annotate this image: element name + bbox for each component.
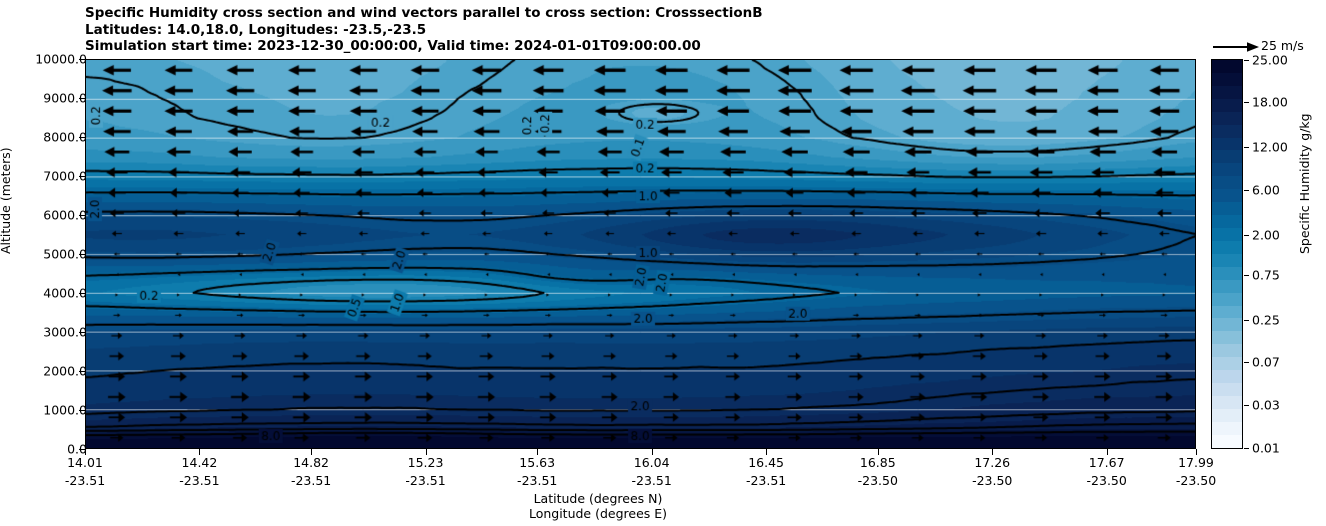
- x-axis-label-latitude: Latitude (degrees N): [0, 491, 1196, 506]
- colorbar-tick-mark: [1244, 448, 1249, 449]
- colorbar-segment: [1212, 422, 1242, 435]
- x-tick-label-latitude: 14.01: [67, 455, 103, 470]
- colorbar-segment: [1212, 150, 1242, 163]
- x-tick-label-longitude: -23.51: [517, 473, 557, 488]
- x-tick-label-latitude: 16.04: [634, 455, 670, 470]
- x-tick-label-longitude: -23.50: [1176, 473, 1216, 488]
- cross-section-plot: [85, 59, 1196, 449]
- colorbar-tick-mark: [1244, 190, 1249, 191]
- colorbar-segment: [1212, 409, 1242, 422]
- colorbar-tick-label: 18.00: [1252, 95, 1288, 110]
- x-tick-label-longitude: -23.51: [632, 473, 672, 488]
- colorbar-segment: [1212, 344, 1242, 357]
- x-tick-label-latitude: 17.99: [1178, 455, 1214, 470]
- x-tick-label-latitude: 16.85: [860, 455, 896, 470]
- colorbar-segment: [1212, 306, 1242, 319]
- title-line-2: Latitudes: 14.0,18.0, Longitudes: -23.5,…: [85, 22, 1195, 39]
- y-tick-mark: [79, 332, 85, 333]
- colorbar-segment: [1212, 202, 1242, 215]
- figure-title: Specific Humidity cross section and wind…: [85, 5, 1195, 55]
- colorbar-segment: [1212, 254, 1242, 267]
- colorbar-tick-mark: [1244, 102, 1249, 103]
- colorbar-tick-mark: [1244, 275, 1249, 276]
- colorbar-segment: [1212, 189, 1242, 202]
- y-tick-mark: [79, 293, 85, 294]
- x-tick-label-longitude: -23.50: [858, 473, 898, 488]
- figure-root: Specific Humidity cross section and wind…: [0, 0, 1326, 526]
- y-tick-mark: [79, 176, 85, 177]
- colorbar-tick-label: 12.00: [1252, 139, 1288, 154]
- colorbar-tick-mark: [1244, 362, 1249, 363]
- colorbar-segment: [1212, 99, 1242, 112]
- colorbar-segment: [1212, 73, 1242, 86]
- colorbar-segment: [1212, 112, 1242, 125]
- x-tick-label-latitude: 15.63: [519, 455, 555, 470]
- colorbar-tick-mark: [1244, 405, 1249, 406]
- colorbar-segment: [1212, 138, 1242, 151]
- colorbar-segment: [1212, 125, 1242, 138]
- x-tick-label-latitude: 16.45: [748, 455, 784, 470]
- x-tick-label-latitude: 17.67: [1089, 455, 1125, 470]
- x-tick-label-longitude: -23.50: [972, 473, 1012, 488]
- x-tick-label-longitude: -23.51: [746, 473, 786, 488]
- y-axis-label: Altitude (meters): [0, 147, 13, 254]
- colorbar-segment: [1212, 331, 1242, 344]
- x-tick-label-longitude: -23.51: [405, 473, 445, 488]
- wind-key-label: 25 m/s: [1261, 38, 1304, 53]
- x-tick-label-latitude: 15.23: [408, 455, 444, 470]
- y-tick-mark: [79, 254, 85, 255]
- colorbar-tick-mark: [1244, 235, 1249, 236]
- colorbar-segment: [1212, 435, 1242, 448]
- colorbar-segment: [1212, 241, 1242, 254]
- x-tick-label-latitude: 14.42: [182, 455, 218, 470]
- colorbar-tick-mark: [1244, 320, 1249, 321]
- colorbar-segment: [1212, 357, 1242, 370]
- colorbar-tick-mark: [1244, 147, 1249, 148]
- colorbar-segment: [1212, 383, 1242, 396]
- colorbar-segment: [1212, 228, 1242, 241]
- y-tick-mark: [79, 59, 85, 60]
- colorbar-tick-label: 0.07: [1252, 355, 1280, 370]
- y-tick-mark: [79, 410, 85, 411]
- colorbar-tick-label: 0.01: [1252, 441, 1280, 456]
- x-tick-label-latitude: 14.82: [293, 455, 329, 470]
- colorbar-segment: [1212, 293, 1242, 306]
- colorbar-tick-label: 0.25: [1252, 313, 1280, 328]
- colorbar-segment: [1212, 267, 1242, 280]
- title-line-1: Specific Humidity cross section and wind…: [85, 5, 1195, 22]
- humidity-contour-field: [86, 60, 1195, 448]
- colorbar-segment: [1212, 60, 1242, 73]
- colorbar-tick-label: 6.00: [1252, 183, 1280, 198]
- colorbar-tick-label: 0.03: [1252, 398, 1280, 413]
- colorbar-tick-mark: [1244, 60, 1249, 61]
- x-tick-label-longitude: -23.51: [65, 473, 105, 488]
- title-line-3: Simulation start time: 2023-12-30_00:00:…: [85, 38, 1195, 55]
- x-tick-label-longitude: -23.50: [1087, 473, 1127, 488]
- colorbar-segment: [1212, 176, 1242, 189]
- colorbar-title: Specific Humidity g/kg: [1297, 113, 1312, 254]
- wind-key-arrow-icon: [1213, 40, 1259, 54]
- colorbar-segment: [1212, 215, 1242, 228]
- colorbar-segment: [1212, 163, 1242, 176]
- y-tick-mark: [79, 215, 85, 216]
- colorbar-segment: [1212, 280, 1242, 293]
- x-tick-label-latitude: 17.26: [974, 455, 1010, 470]
- colorbar: [1211, 59, 1243, 449]
- x-tick-label-longitude: -23.51: [179, 473, 219, 488]
- wind-vector-key: 25 m/s: [1213, 38, 1323, 56]
- colorbar-tick-label: 2.00: [1252, 228, 1280, 243]
- colorbar-segment: [1212, 396, 1242, 409]
- colorbar-segment: [1212, 318, 1242, 331]
- colorbar-segment: [1212, 370, 1242, 383]
- y-tick-mark: [79, 137, 85, 138]
- x-axis-label-longitude: Longitude (degrees E): [0, 506, 1196, 521]
- y-tick-mark: [79, 371, 85, 372]
- x-tick-label-longitude: -23.51: [291, 473, 331, 488]
- colorbar-tick-label: 0.75: [1252, 268, 1280, 283]
- y-tick-mark: [79, 98, 85, 99]
- colorbar-segment: [1212, 86, 1242, 99]
